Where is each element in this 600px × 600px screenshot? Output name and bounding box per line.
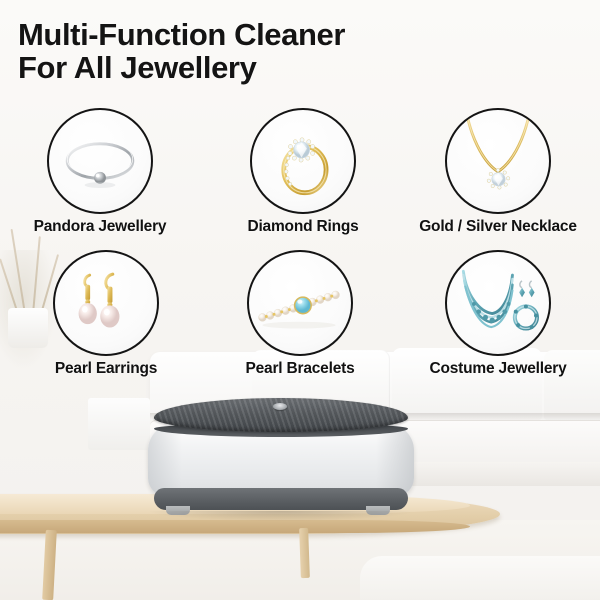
feature-label: Gold / Silver Necklace bbox=[400, 218, 596, 236]
feature-circle bbox=[250, 108, 356, 214]
pandora-bangle-icon bbox=[49, 110, 151, 212]
feature-label: Diamond Rings bbox=[205, 218, 401, 236]
feature-circle bbox=[47, 108, 153, 214]
feature-label: Pearl Bracelets bbox=[202, 360, 398, 378]
feature-label: Pearl Earrings bbox=[8, 360, 204, 378]
product-poster: Multi-Function Cleaner For All Jewellery bbox=[0, 0, 600, 600]
pearl-earrings-icon bbox=[55, 252, 157, 354]
feature-item-pearl-bracelets[interactable]: Pearl Bracelets bbox=[202, 250, 398, 378]
feature-circle bbox=[445, 108, 551, 214]
feature-circle bbox=[445, 250, 551, 356]
feature-item-pandora-jewellery[interactable]: Pandora Jewellery bbox=[2, 108, 198, 236]
necklace-icon bbox=[447, 110, 549, 212]
pearl-bracelet-icon bbox=[249, 252, 351, 354]
feature-circle bbox=[53, 250, 159, 356]
feature-item-pearl-earrings[interactable]: Pearl Earrings bbox=[8, 250, 204, 378]
feature-circle bbox=[247, 250, 353, 356]
feature-item-costume-jewellery[interactable]: Costume Jewellery bbox=[400, 250, 596, 378]
feature-item-gold-silver-necklace[interactable]: Gold / Silver Necklace bbox=[400, 108, 596, 236]
diamond-ring-icon bbox=[252, 110, 354, 212]
costume-jewellery-set-icon bbox=[447, 252, 549, 354]
feature-grid: Pandora Jewellery bbox=[0, 0, 600, 600]
feature-item-diamond-rings[interactable]: Diamond Rings bbox=[205, 108, 401, 236]
feature-label: Pandora Jewellery bbox=[2, 218, 198, 236]
feature-label: Costume Jewellery bbox=[400, 360, 596, 378]
